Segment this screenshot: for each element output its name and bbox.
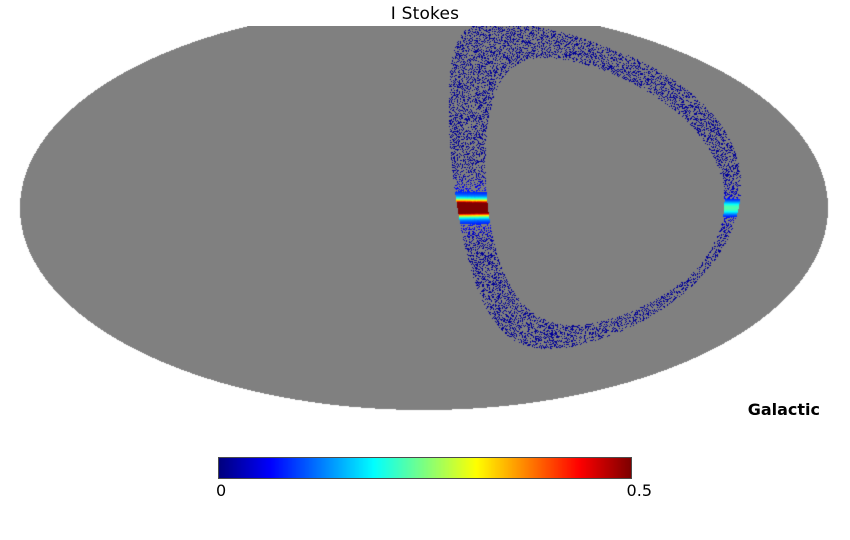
colorbar-gradient [218, 457, 632, 479]
coordinate-system-label: Galactic [748, 400, 820, 419]
page-title: I Stokes [0, 3, 850, 25]
colorbar[interactable] [218, 457, 632, 479]
mollweide-sky-map[interactable] [0, 26, 850, 446]
colorbar-min-label: 0 [216, 481, 226, 500]
colorbar-max-label: 0.5 [612, 481, 652, 500]
sky-map-figure: I Stokes Galactic 0 0.5 [0, 0, 850, 540]
